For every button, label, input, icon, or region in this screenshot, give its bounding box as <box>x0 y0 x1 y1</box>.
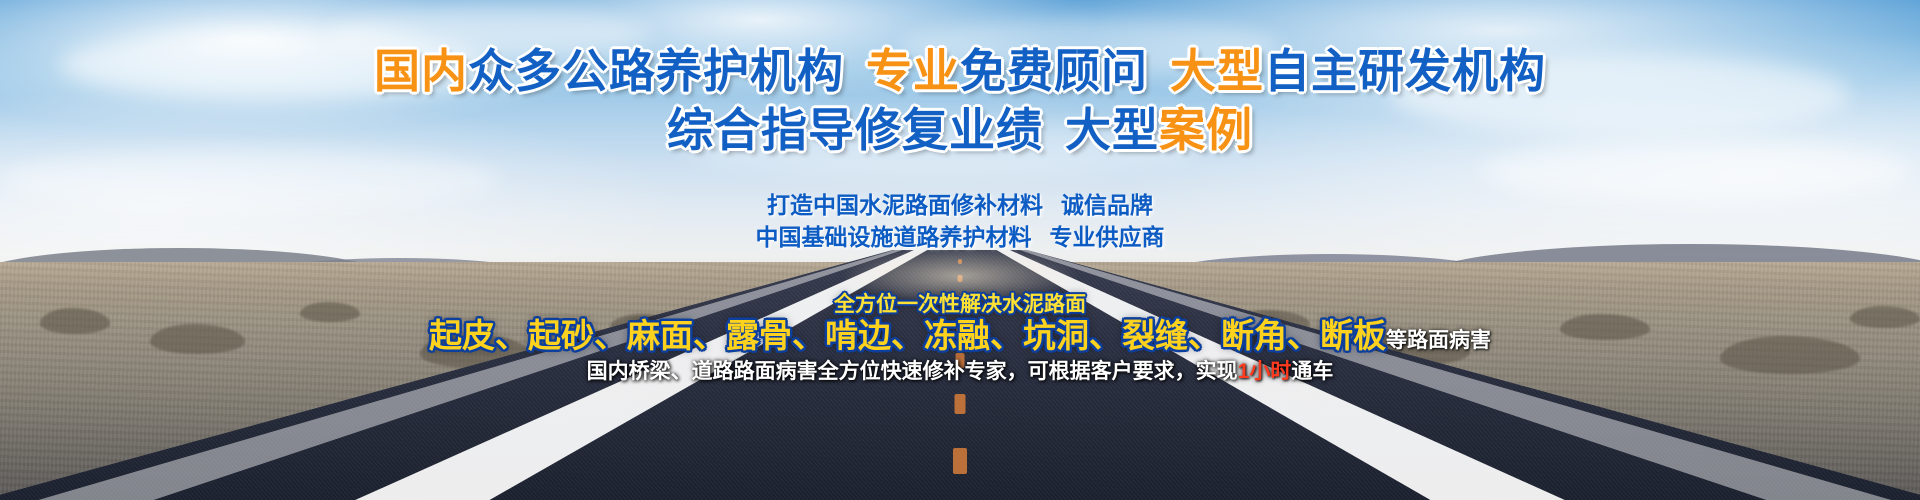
headline-2-seg-1: 综合指导修复业绩 <box>667 104 1043 156</box>
road-defect-list: 起皮、起砂、麻面、露骨、啃边、冻融、坑洞、裂缝、断角、断板 <box>429 317 1386 354</box>
headline-1-seg-6: 自主研发机构 <box>1264 45 1546 97</box>
headline-1-seg-5: 大型 <box>1170 45 1264 97</box>
headline-1-seg-3: 专业 <box>866 45 960 97</box>
headline-2-seg-2: 大型 <box>1065 104 1159 156</box>
road-defect-suffix: 等路面病害 <box>1386 329 1491 352</box>
subline-1-main: 打造中国水泥路面修补材料 <box>767 192 1043 218</box>
headline-1-seg-4: 免费顾问 <box>960 45 1148 97</box>
subline-2-main: 中国基础设施道路养护材料 <box>756 224 1032 250</box>
road-claim-highlight: 1小时 <box>1238 360 1292 383</box>
headline-line-2: 综合指导修复业绩大型案例 <box>0 103 1920 157</box>
headline-line-1: 国内众多公路养护机构专业免费顾问大型自主研发机构 <box>0 44 1920 98</box>
road-text-line-3: 国内桥梁、道路路面病害全方位快速修补专家，可根据客户要求，实现1小时通车 <box>0 358 1920 386</box>
road-claim-prefix: 国内桥梁、道路路面病害全方位快速修补专家，可根据客户要求，实现 <box>587 360 1238 383</box>
subline-1: 打造中国水泥路面修补材料诚信品牌 <box>0 190 1920 220</box>
subline-2-tag: 专业供应商 <box>1050 224 1165 250</box>
subline-1-tag: 诚信品牌 <box>1061 192 1153 218</box>
headline-1-seg-1: 国内 <box>374 45 468 97</box>
subline-2: 中国基础设施道路养护材料专业供应商 <box>0 222 1920 252</box>
promo-banner: 国内众多公路养护机构专业免费顾问大型自主研发机构 综合指导修复业绩大型案例 打造… <box>0 0 1920 500</box>
headline-2-seg-3: 案例 <box>1159 104 1253 156</box>
road-claim-suffix: 通车 <box>1291 360 1333 383</box>
road-text-line-2: 起皮、起砂、麻面、露骨、啃边、冻融、坑洞、裂缝、断角、断板等路面病害 <box>0 315 1920 362</box>
headline-1-seg-2: 众多公路养护机构 <box>468 45 844 97</box>
